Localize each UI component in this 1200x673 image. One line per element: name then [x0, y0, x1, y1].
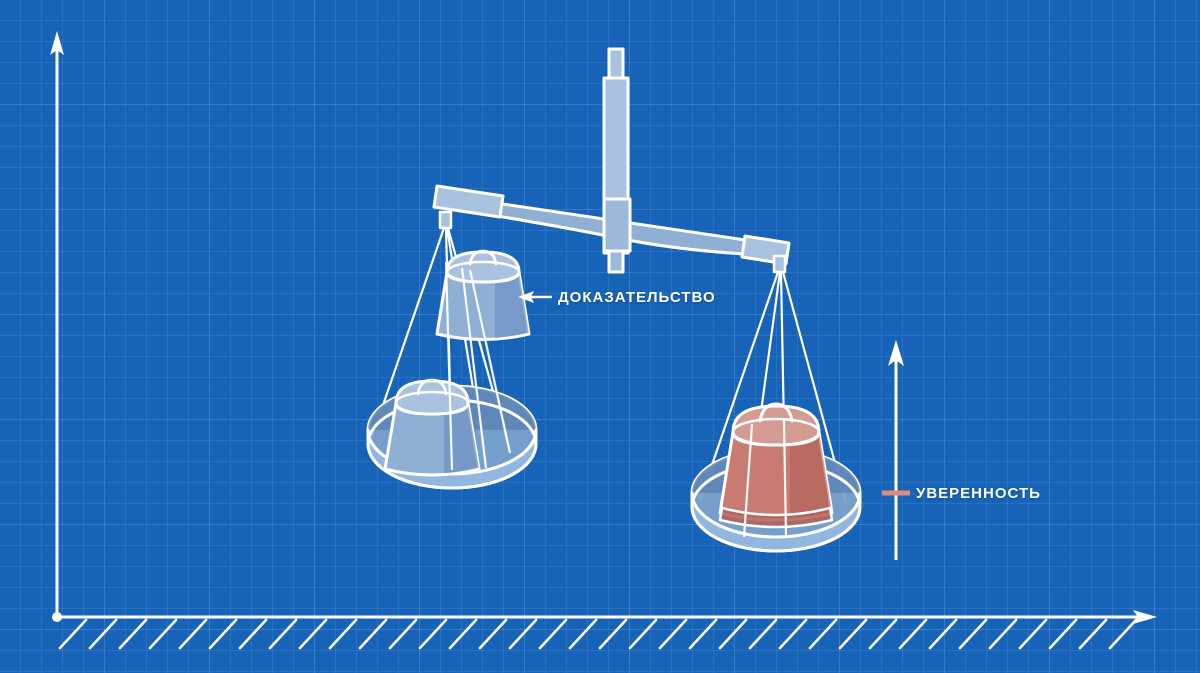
confidence-arrow-group	[882, 340, 910, 560]
hatched-ground-line	[60, 620, 1136, 648]
evidence-label: ДОКАЗАТЕЛЬСТВО	[558, 289, 716, 306]
blue-weight-upper	[437, 251, 539, 350]
illustration-stage: ДОКАЗАТЕЛЬСТВО УВЕРЕННОСТЬ	[0, 0, 1200, 673]
confidence-label: УВЕРЕННОСТЬ	[916, 485, 1041, 502]
balance-scale-artwork	[0, 0, 1200, 673]
origin-dot	[52, 612, 62, 622]
horizontal-axis	[52, 610, 1157, 624]
red-weight	[720, 404, 840, 530]
vertical-axis	[50, 31, 64, 617]
